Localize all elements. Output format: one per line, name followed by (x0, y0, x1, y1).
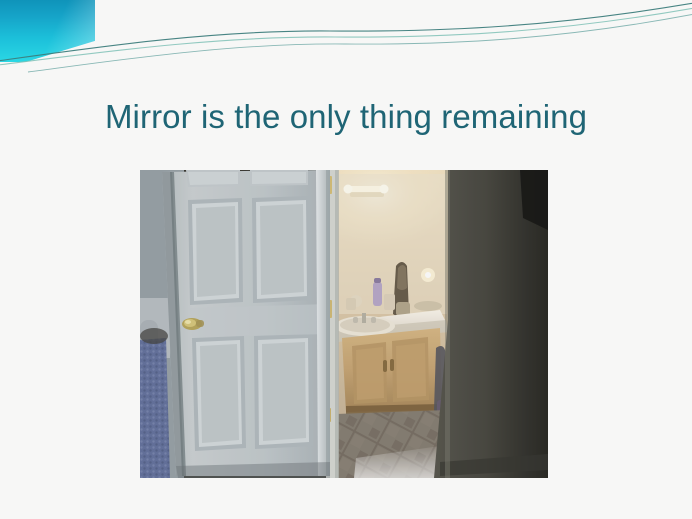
bathroom-doorway-photo (140, 170, 548, 478)
page-title: Mirror is the only thing remaining (0, 97, 692, 137)
presentation-slide: Mirror is the only thing remaining (0, 0, 692, 519)
teal-curve-swoosh (0, 0, 692, 80)
slide-photo (140, 170, 548, 478)
